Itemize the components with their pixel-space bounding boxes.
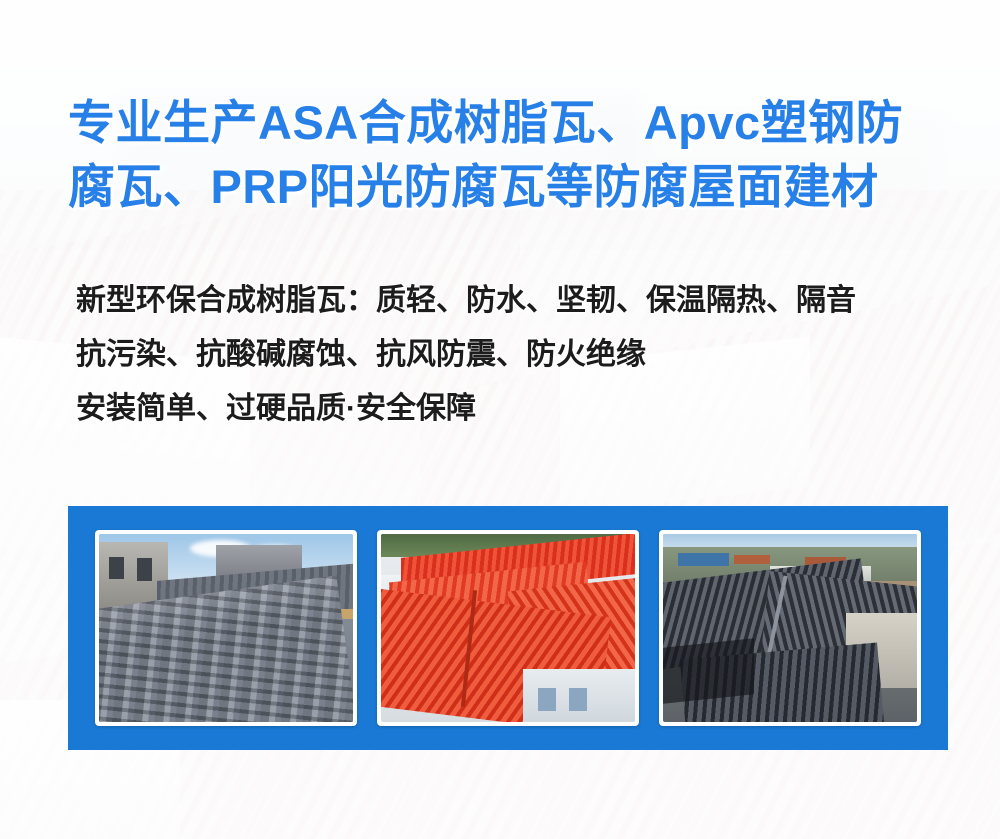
photo2-window-7 (569, 688, 587, 711)
photo-frame-1 (95, 530, 357, 726)
product-photo-grey-barrel-tile-roof-closeup (99, 534, 353, 722)
photo-frame-3 (659, 530, 921, 726)
photo-frame-2 (377, 530, 639, 726)
photo1-window-2 (137, 558, 152, 581)
subcopy-line-1: 新型环保合成树脂瓦：质轻、防水、坚韧、保温隔热、隔音 (76, 274, 966, 328)
photo3-blue-roof (678, 553, 729, 566)
photo3-orange-roof-1 (734, 555, 770, 564)
headline-line-1: 专业生产ASA合成树脂瓦、Apvc塑钢防 (68, 92, 948, 154)
subcopy-line-3: 安装简单、过硬品质·安全保障 (76, 382, 966, 436)
headline-line-2: 腐瓦、PRP阳光防腐瓦等防腐屋面建材 (68, 156, 948, 218)
product-photo-dark-grey-tile-roof-village (663, 534, 917, 722)
photo3-shadow (663, 638, 754, 704)
product-banner: 专业生产ASA合成树脂瓦、Apvc塑钢防 腐瓦、PRP阳光防腐瓦等防腐屋面建材 … (0, 0, 1000, 839)
photo-gallery-panel (68, 506, 948, 750)
photo1-window-1 (109, 557, 124, 580)
photo2-window-6 (538, 688, 556, 711)
subcopy-line-2: 抗污染、抗酸碱腐蚀、抗风防震、防火绝缘 (76, 328, 966, 382)
product-photo-red-tile-roof-buildings (381, 534, 635, 722)
subcopy: 新型环保合成树脂瓦：质轻、防水、坚韧、保温隔热、隔音 抗污染、抗酸碱腐蚀、抗风防… (76, 274, 966, 436)
headline: 专业生产ASA合成树脂瓦、Apvc塑钢防 腐瓦、PRP阳光防腐瓦等防腐屋面建材 (68, 92, 948, 218)
